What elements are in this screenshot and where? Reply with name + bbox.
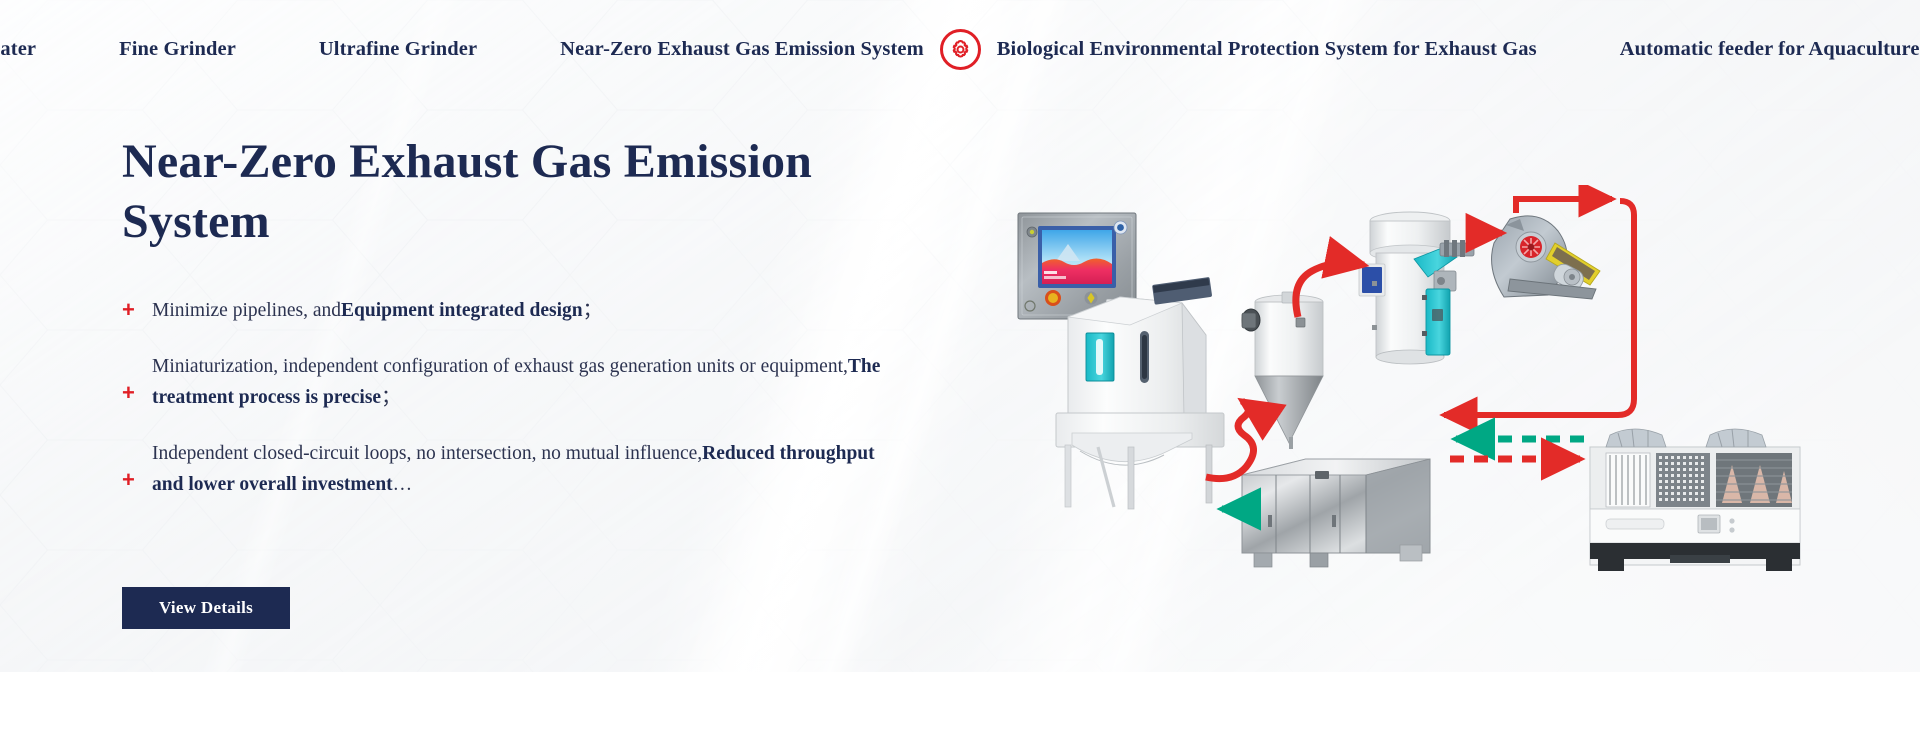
page-root: ater Fine Grinder Ultrafine Grinder Near…	[0, 0, 1920, 735]
primary-navigation: ater Fine Grinder Ultrafine Grinder Near…	[0, 0, 1920, 98]
centrifugal-blower	[1492, 216, 1600, 299]
bullet-lead-text: Minimize pipelines, and	[152, 300, 341, 321]
hero-copy: Near-Zero Exhaust Gas Emission System + …	[122, 132, 912, 501]
gear-icon[interactable]	[940, 29, 981, 70]
list-item: + Independent closed-circuit loops, no i…	[122, 438, 882, 501]
air-cooled-chiller	[1590, 429, 1800, 571]
bullet-strong-text: Equipment integrated design	[341, 300, 583, 321]
nav-item-heater[interactable]: ater	[0, 38, 36, 61]
cyclone-separator	[1242, 292, 1323, 449]
exhaust-gas-process-flow-diagram: CE	[1010, 185, 1810, 615]
feature-bullet-list: + Minimize pipelines, andEquipment integ…	[122, 295, 912, 501]
nav-item-automatic-feeder[interactable]: Automatic feeder for Aquaculture	[1620, 38, 1920, 61]
chiller-fan-hoods	[1606, 429, 1766, 447]
bullet-lead-text: Independent closed-circuit loops, no int…	[152, 443, 702, 464]
view-details-button[interactable]: View Details	[122, 587, 290, 629]
plus-icon: +	[122, 469, 135, 491]
page-title: Near-Zero Exhaust Gas Emission System	[122, 132, 852, 253]
list-item: + Miniaturization, independent configura…	[122, 351, 882, 414]
bullet-tail-text: …	[393, 474, 413, 495]
plus-icon: +	[122, 299, 135, 321]
nav-item-near-zero[interactable]: Near-Zero Exhaust Gas Emission System	[560, 38, 924, 61]
plus-icon: +	[122, 382, 135, 404]
bullet-tail-text: ；	[583, 300, 603, 321]
page-bottom-strip	[0, 672, 1920, 735]
nav-item-ultrafine-grinder[interactable]: Ultrafine Grinder	[319, 38, 477, 61]
bullet-tail-text: ；	[381, 387, 401, 408]
hero-banner: ater Fine Grinder Ultrafine Grinder Near…	[0, 0, 1920, 672]
dryer-cooler-unit	[1056, 277, 1224, 509]
nav-item-fine-grinder[interactable]: Fine Grinder	[119, 38, 236, 61]
bullet-lead-text: Miniaturization, independent configurati…	[152, 356, 848, 377]
filter-tower	[1359, 212, 1474, 364]
nav-item-biological[interactable]: Biological Environmental Protection Syst…	[997, 38, 1537, 61]
flow-blower-up	[1516, 199, 1612, 213]
heat-exchanger	[1242, 459, 1430, 567]
list-item: + Minimize pipelines, andEquipment integ…	[122, 295, 882, 327]
